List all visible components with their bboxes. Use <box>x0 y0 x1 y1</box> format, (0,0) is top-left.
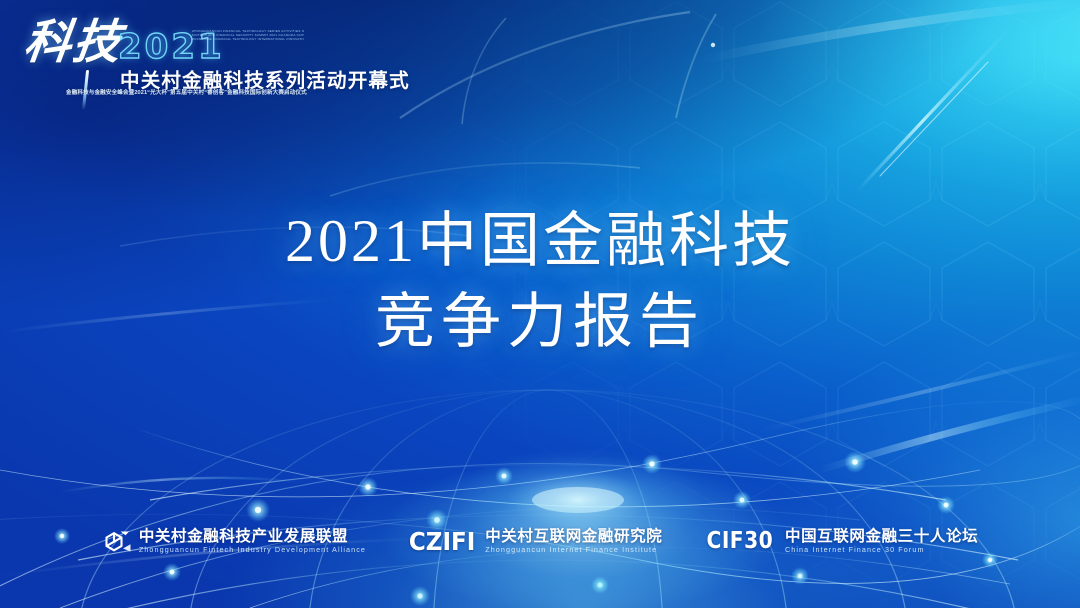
event-logo-micro-text: ZHONGGUANCUN FINANCIAL TECHNOLOGY SERIES… <box>192 29 304 42</box>
partner-alliance: 中关村金融科技产业发展联盟 Zhongguancun Fintech Indus… <box>102 518 366 564</box>
poster-title: 2021中国金融科技 竞争力报告 <box>0 206 1080 358</box>
event-logo-subtitle: 金融科技与金融安全峰会暨2021“光大杯”第五届中关村“睿创客”金融科技国际创新… <box>66 88 307 96</box>
partner-logos: 中关村金融科技产业发展联盟 Zhongguancun Fintech Indus… <box>0 518 1080 564</box>
poster-canvas: 科技 2021 ZHONGGUANCUN FINANCIAL TECHNOLOG… <box>0 0 1080 608</box>
cif30-name-en: China Internet Finance 30 Forum <box>785 546 978 553</box>
czifi-name-en: Zhongguancun Internet Finance Institute <box>485 546 662 553</box>
event-logo: 科技 2021 ZHONGGUANCUN FINANCIAL TECHNOLOG… <box>18 18 348 104</box>
micro-line-3: ZUANSHIKE FINANCIAL TECHNOLOGY INTERNATI… <box>192 37 304 41</box>
event-logo-brush-text: 科技 <box>21 20 125 67</box>
title-line-2: 竞争力报告 <box>0 287 1080 358</box>
cif30-name-cn: 中国互联网金融三十人论坛 <box>785 529 978 545</box>
alliance-name-cn: 中关村金融科技产业发展联盟 <box>139 529 366 545</box>
cif30-text: 中国互联网金融三十人论坛 China Internet Finance 30 F… <box>785 529 978 554</box>
cif30-wordmark-icon: CIF30 <box>707 530 774 553</box>
czifi-name-cn: 中关村互联网金融研究院 <box>485 529 662 545</box>
partner-czifi: CZIFI 中关村互联网金融研究院 Zhongguancun Internet … <box>406 518 662 564</box>
czifi-wordmark-icon: CZIFI <box>409 529 475 554</box>
czifi-text: 中关村互联网金融研究院 Zhongguancun Internet Financ… <box>485 529 662 554</box>
title-line-1: 2021中国金融科技 <box>0 206 1080 277</box>
alliance-name-en: Zhongguancun Fintech Industry Developmen… <box>139 546 366 553</box>
alliance-text: 中关村金融科技产业发展联盟 Zhongguancun Fintech Indus… <box>139 529 366 554</box>
alliance-cube-icon <box>102 526 132 556</box>
partner-cif30: CIF30 中国互联网金融三十人论坛 China Internet Financ… <box>702 518 978 564</box>
